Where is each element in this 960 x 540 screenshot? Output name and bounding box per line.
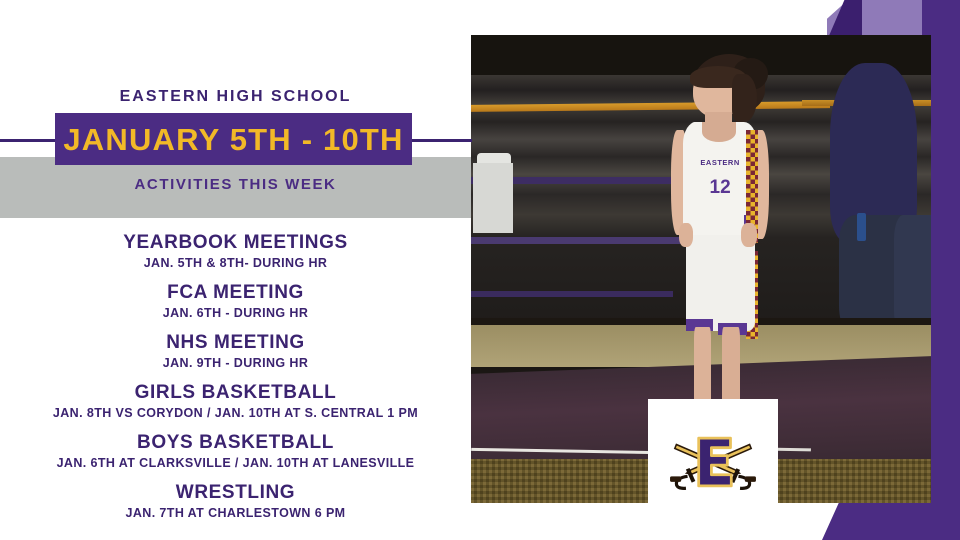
list-item: NHS MEETING JAN. 9TH - DURING HR [0, 332, 471, 371]
activity-detail: JAN. 7TH AT CHARLESTOWN 6 PM [0, 505, 471, 521]
eastern-e-crossed-swords-icon [665, 427, 761, 497]
list-item: FCA MEETING JAN. 6TH - DURING HR [0, 282, 471, 321]
bleacher-slat-purple-3 [471, 291, 673, 297]
activity-detail: JAN. 9TH - DURING HR [0, 355, 471, 371]
list-item: GIRLS BASKETBALL JAN. 8TH VS CORYDON / J… [0, 382, 471, 421]
activity-title: FCA MEETING [0, 282, 471, 304]
school-logo-card [648, 399, 778, 524]
rule-left [0, 139, 58, 142]
player-figure: EASTERN 12 [646, 54, 802, 456]
player-shorts [686, 235, 755, 332]
activity-title: GIRLS BASKETBALL [0, 382, 471, 404]
list-item: WRESTLING JAN. 7TH AT CHARLESTOWN 6 PM [0, 482, 471, 521]
activity-detail: JAN. 6TH AT CLARKSVILLE / JAN. 10TH AT L… [0, 455, 471, 471]
activity-detail: JAN. 6TH - DURING HR [0, 305, 471, 321]
activity-title: YEARBOOK MEETINGS [0, 232, 471, 254]
school-name: EASTERN HIGH SCHOOL [0, 88, 471, 106]
player-right-hand [741, 223, 757, 247]
list-item: YEARBOOK MEETINGS JAN. 5TH & 8TH- DURING… [0, 232, 471, 271]
activities-subheading: ACTIVITIES THIS WEEK [0, 176, 471, 193]
poster-canvas: EASTERN 12 [0, 0, 960, 540]
water-bottle [857, 213, 866, 241]
trash-bin [473, 163, 513, 233]
activity-detail: JAN. 5TH & 8TH- DURING HR [0, 255, 471, 271]
rule-right [410, 139, 472, 142]
activities-list: YEARBOOK MEETINGS JAN. 5TH & 8TH- DURING… [0, 232, 471, 533]
spectator-second [894, 215, 931, 335]
activity-detail: JAN. 8TH VS CORYDON / JAN. 10TH AT S. CE… [0, 405, 471, 421]
player-left-hand [679, 223, 693, 247]
list-item: BOYS BASKETBALL JAN. 6TH AT CLARKSVILLE … [0, 432, 471, 471]
activity-title: WRESTLING [0, 482, 471, 504]
date-range-text: JANUARY 5TH - 10TH [63, 124, 403, 155]
player-hair-side [732, 74, 757, 122]
date-range-banner: JANUARY 5TH - 10TH [55, 113, 412, 165]
activity-title: NHS MEETING [0, 332, 471, 354]
activity-title: BOYS BASKETBALL [0, 432, 471, 454]
